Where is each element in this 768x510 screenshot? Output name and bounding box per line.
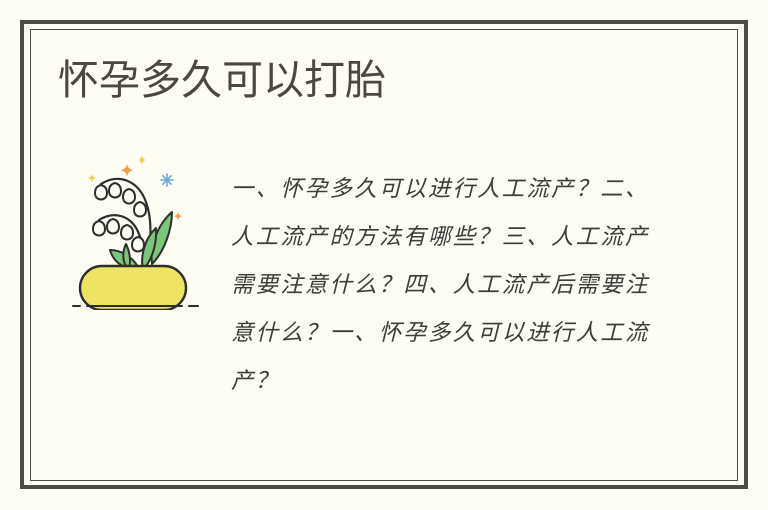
sparkle-orange-small: [174, 212, 182, 220]
page-title: 怀孕多久可以打胎: [58, 55, 386, 105]
sparkle-yellow-small: [88, 174, 96, 182]
body-paragraph: 一、怀孕多久可以进行人工流产？二、人工流产的方法有哪些？三、人工流产需要注意什么…: [231, 165, 649, 405]
bell: [93, 221, 105, 236]
bell: [123, 189, 135, 204]
lily-of-the-valley-illustration: [60, 140, 210, 310]
bell: [134, 202, 146, 217]
bells-lower: [93, 219, 144, 252]
bell: [132, 237, 144, 252]
leaf-center: [142, 228, 156, 270]
bell: [107, 219, 119, 234]
bell: [121, 225, 133, 240]
slide-page: 怀孕多久可以打胎: [0, 0, 768, 510]
bell: [109, 183, 121, 198]
sparkle-blue-center: [164, 177, 169, 182]
sparkle-yellow-diamond: [139, 156, 145, 164]
flower-pot: [80, 266, 186, 310]
bell: [95, 185, 107, 200]
sparkle-orange-star: [121, 164, 133, 176]
